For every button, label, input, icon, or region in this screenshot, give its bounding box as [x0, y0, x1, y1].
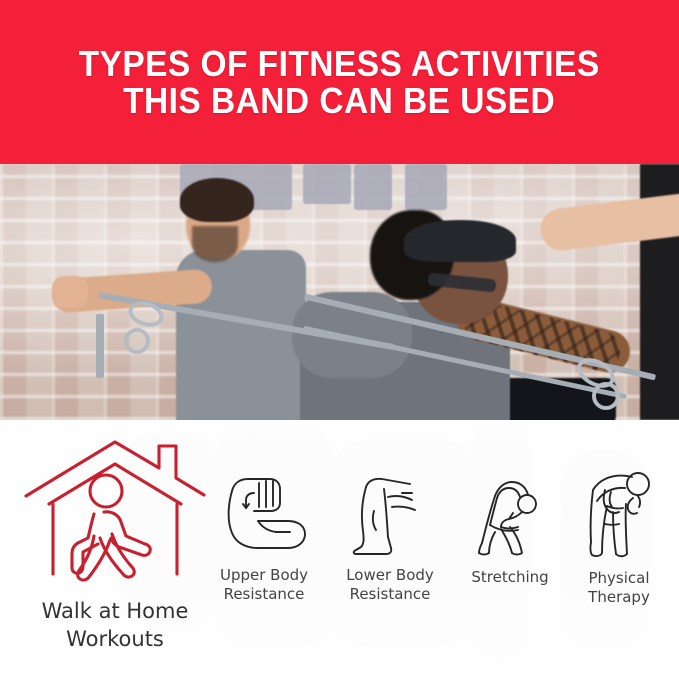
wall-panel — [303, 164, 351, 204]
house-walking-person-icon — [0, 438, 230, 589]
infographic-page: TYPES OF FITNESS ACTIVITIES THIS BAND CA… — [0, 0, 679, 679]
band-handle — [592, 382, 620, 410]
person-back-hair — [180, 178, 254, 222]
person-front-headband — [404, 220, 516, 262]
header-banner: TYPES OF FITNESS ACTIVITIES THIS BAND CA… — [0, 0, 679, 164]
leg-knee-icon — [332, 475, 448, 560]
activities-strip: Walk at Home Workouts — [0, 420, 679, 679]
activity-item-walk-at-home[interactable]: Walk at Home Workouts — [0, 438, 230, 653]
band-handle — [124, 328, 150, 354]
activity-item-lower-body-resistance[interactable]: Lower Body Resistance — [332, 475, 448, 604]
activity-item-upper-body-resistance[interactable]: Upper Body Resistance — [206, 475, 322, 604]
activity-label-stretching: Stretching — [458, 568, 562, 587]
flexed-bicep-icon — [206, 475, 322, 560]
activities-list: Walk at Home Workouts — [0, 420, 679, 679]
activity-label-walk-at-home: Walk at Home Workouts — [0, 597, 230, 653]
activity-item-physical-therapy[interactable]: Physical Therapy — [566, 468, 672, 607]
wall-panel — [405, 164, 447, 210]
page-title: TYPES OF FITNESS ACTIVITIES THIS BAND CA… — [79, 45, 600, 119]
workout-photo — [0, 164, 679, 420]
activity-label-upper-body-resistance: Upper Body Resistance — [206, 566, 322, 604]
resistance-band — [96, 314, 104, 378]
activity-label-lower-body-resistance: Lower Body Resistance — [332, 566, 448, 604]
activity-label-physical-therapy: Physical Therapy — [566, 569, 672, 607]
person-back-beard — [192, 226, 238, 262]
stretching-person-icon — [458, 475, 562, 562]
wall-panel — [354, 164, 392, 210]
activity-item-stretching[interactable]: Stretching — [458, 475, 562, 587]
person-back-hand — [52, 276, 88, 308]
back-pain-person-icon — [566, 468, 672, 563]
